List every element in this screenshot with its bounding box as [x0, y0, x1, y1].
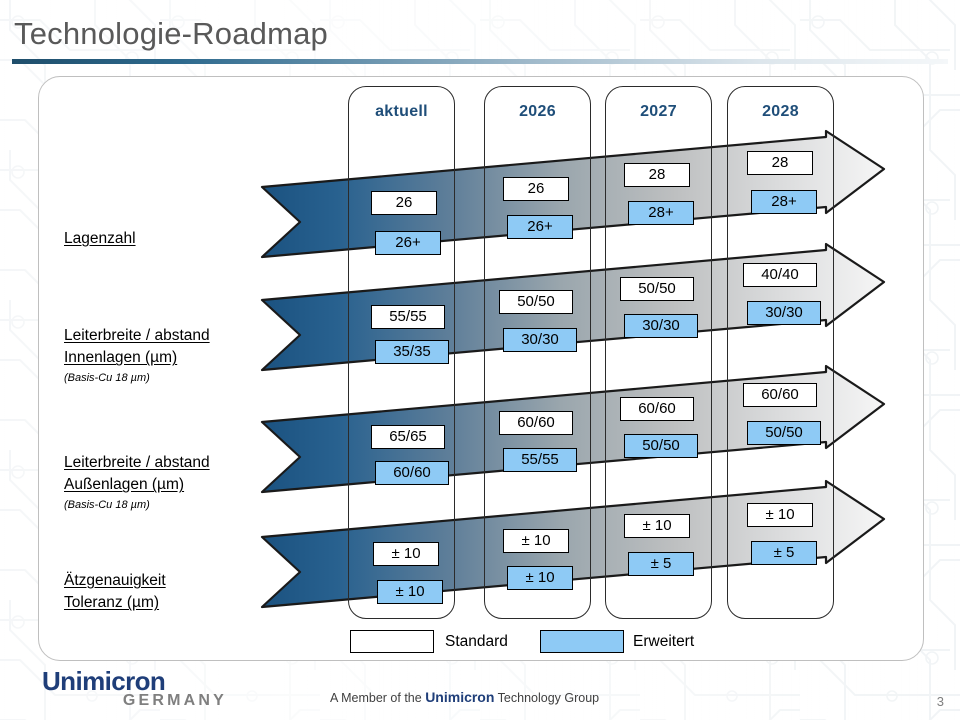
row-title-line2: Außenlagen (µm): [64, 476, 184, 493]
value-chip-standard[interactable]: ± 10: [503, 529, 569, 553]
value-chip-extended[interactable]: 28+: [751, 190, 817, 214]
legend-swatch-standard: [350, 630, 434, 653]
value-chip-standard[interactable]: 40/40: [743, 263, 817, 287]
row-label-innenlagen: Leiterbreite / abstand Innenlagen (µm) (…: [64, 325, 210, 387]
value-chip-extended[interactable]: 28+: [628, 201, 694, 225]
column-label: aktuell: [349, 103, 454, 121]
value-chip-standard[interactable]: 60/60: [499, 411, 573, 435]
column-label: 2028: [728, 103, 833, 121]
row-label-lagenzahl: Lagenzahl: [64, 228, 136, 250]
value-chip-standard[interactable]: ± 10: [624, 514, 690, 538]
value-chip-extended[interactable]: 60/60: [375, 461, 449, 485]
value-chip-standard[interactable]: 65/65: [371, 425, 445, 449]
value-chip-standard[interactable]: 60/60: [620, 397, 694, 421]
value-chip-extended[interactable]: 30/30: [624, 314, 698, 338]
row-title-line2: Toleranz (µm): [64, 594, 159, 611]
row-subtitle: (Basis-Cu 18 µm): [64, 371, 210, 387]
value-chip-standard[interactable]: 50/50: [499, 290, 573, 314]
legend-label-standard: Standard: [445, 630, 508, 653]
value-chip-extended[interactable]: ± 5: [751, 541, 817, 565]
value-chip-extended[interactable]: ± 10: [507, 566, 573, 590]
unimicron-logo: Unimicron GERMANY: [42, 668, 227, 709]
value-chip-standard[interactable]: 28: [747, 151, 813, 175]
value-chip-extended[interactable]: 26+: [375, 231, 441, 255]
row-title: Leiterbreite / abstand: [64, 454, 210, 471]
row-title: Lagenzahl: [64, 230, 136, 247]
member-tagline-brand: Unimicron: [425, 689, 494, 705]
member-tagline-suffix: Technology Group: [494, 691, 599, 705]
member-tagline: A Member of the Unimicron Technology Gro…: [330, 689, 599, 705]
value-chip-extended[interactable]: 55/55: [503, 448, 577, 472]
value-chip-standard[interactable]: 26: [503, 177, 569, 201]
row-subtitle: (Basis-Cu 18 µm): [64, 498, 210, 514]
value-chip-standard[interactable]: 26: [371, 191, 437, 215]
row-title: Ätzgenauigkeit: [64, 572, 166, 589]
row-label-aussenlagen: Leiterbreite / abstand Außenlagen (µm) (…: [64, 452, 210, 514]
logo-wordmark: Unimicron: [42, 668, 227, 694]
value-chip-standard[interactable]: 60/60: [743, 383, 817, 407]
member-tagline-prefix: A Member of the: [330, 691, 425, 705]
value-chip-extended[interactable]: 30/30: [503, 328, 577, 352]
value-chip-standard[interactable]: ± 10: [373, 542, 439, 566]
value-chip-standard[interactable]: 50/50: [620, 277, 694, 301]
value-chip-extended[interactable]: 30/30: [747, 301, 821, 325]
value-chip-standard[interactable]: 55/55: [371, 305, 445, 329]
value-chip-standard[interactable]: 28: [624, 163, 690, 187]
legend-swatch-extended: [540, 630, 624, 653]
value-chip-extended[interactable]: 35/35: [375, 340, 449, 364]
row-label-aetzgenauigkeit: Ätzgenauigkeit Toleranz (µm): [64, 570, 166, 615]
value-chip-standard[interactable]: ± 10: [747, 503, 813, 527]
value-chip-extended[interactable]: ± 10: [377, 580, 443, 604]
slide-canvas: Technologie-Roadmap: [0, 0, 960, 720]
row-title: Leiterbreite / abstand: [64, 327, 210, 344]
value-chip-extended[interactable]: 26+: [507, 215, 573, 239]
column-label: 2026: [485, 103, 590, 121]
column-label: 2027: [606, 103, 711, 121]
value-chip-extended[interactable]: ± 5: [628, 552, 694, 576]
page-number: 3: [937, 694, 944, 709]
value-chip-extended[interactable]: 50/50: [747, 421, 821, 445]
row-title-line2: Innenlagen (µm): [64, 349, 177, 366]
legend-label-extended: Erweitert: [633, 630, 694, 653]
value-chip-extended[interactable]: 50/50: [624, 434, 698, 458]
